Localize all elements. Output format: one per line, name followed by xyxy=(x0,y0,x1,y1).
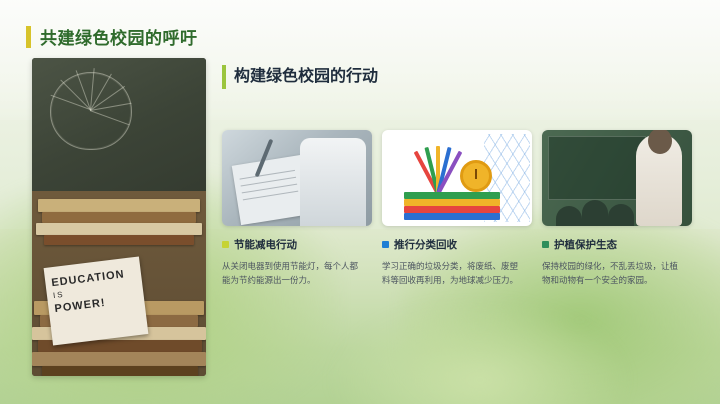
pen-icon xyxy=(255,139,274,178)
pencils-icon xyxy=(408,138,468,194)
student-figure xyxy=(608,204,634,226)
card-title: 节能减电行动 xyxy=(234,237,297,252)
notebook-lines xyxy=(240,170,301,214)
background-bokeh-center xyxy=(330,300,630,404)
books-icon xyxy=(404,190,500,220)
teacher-classroom-photo xyxy=(542,130,692,226)
student-figure xyxy=(556,206,582,226)
card-energy-saving[interactable]: 节能减电行动 从关闭电器到使用节能灯，每个人都能为节约能源出一份力。 xyxy=(222,130,372,287)
page-title: 共建绿色校园的呼吁 xyxy=(40,24,198,49)
clock-icon xyxy=(460,160,492,192)
section-heading: 构建绿色校园的行动 xyxy=(222,62,692,96)
card-body: 学习正确的垃圾分类，将废纸、废塑料等回收再利用，为地球减少压力。 xyxy=(382,259,522,287)
content-area: 构建绿色校园的行动 节能减电行动 从关闭电器到使用节能灯，每个人都能为节约能源出… xyxy=(222,62,692,96)
card-body: 从关闭电器到使用节能灯，每个人都能为节约能源出一份力。 xyxy=(222,259,362,287)
education-is-power-poster: EDUCATION IS POWER! xyxy=(44,256,149,345)
bullet-icon xyxy=(382,241,389,248)
card-eco-protection[interactable]: 护植保护生态 保持校园的绿化，不乱丢垃圾，让植物和动物有一个安全的家园。 xyxy=(542,130,692,287)
classroom-books-photo: EDUCATION IS POWER! xyxy=(32,58,206,376)
action-cards: 节能减电行动 从关闭电器到使用节能灯，每个人都能为节约能源出一份力。 xyxy=(222,130,692,287)
card-title: 护植保护生态 xyxy=(554,237,617,252)
slide-root: 共建绿色校园的呼吁 xyxy=(0,0,720,404)
card-body: 保持校园的绿化，不乱丢垃圾，让植物和动物有一个安全的家园。 xyxy=(542,259,682,287)
bullet-icon xyxy=(222,241,229,248)
chalkboard-bulb-drawing xyxy=(32,58,206,208)
blackboard xyxy=(548,136,646,200)
student-writing-photo xyxy=(222,130,372,226)
section-accent-bar xyxy=(222,65,226,89)
card-title: 推行分类回收 xyxy=(394,237,457,252)
card-waste-sorting[interactable]: 推行分类回收 学习正确的垃圾分类，将废纸、废塑料等回收再利用，为地球减少压力。 xyxy=(382,130,532,287)
bulb-rays-icon xyxy=(38,62,142,162)
header-accent-bar xyxy=(26,26,31,48)
section-title: 构建绿色校园的行动 xyxy=(234,62,378,86)
student-figure xyxy=(582,200,608,226)
bullet-icon xyxy=(542,241,549,248)
stationery-recycling-photo xyxy=(382,130,532,226)
